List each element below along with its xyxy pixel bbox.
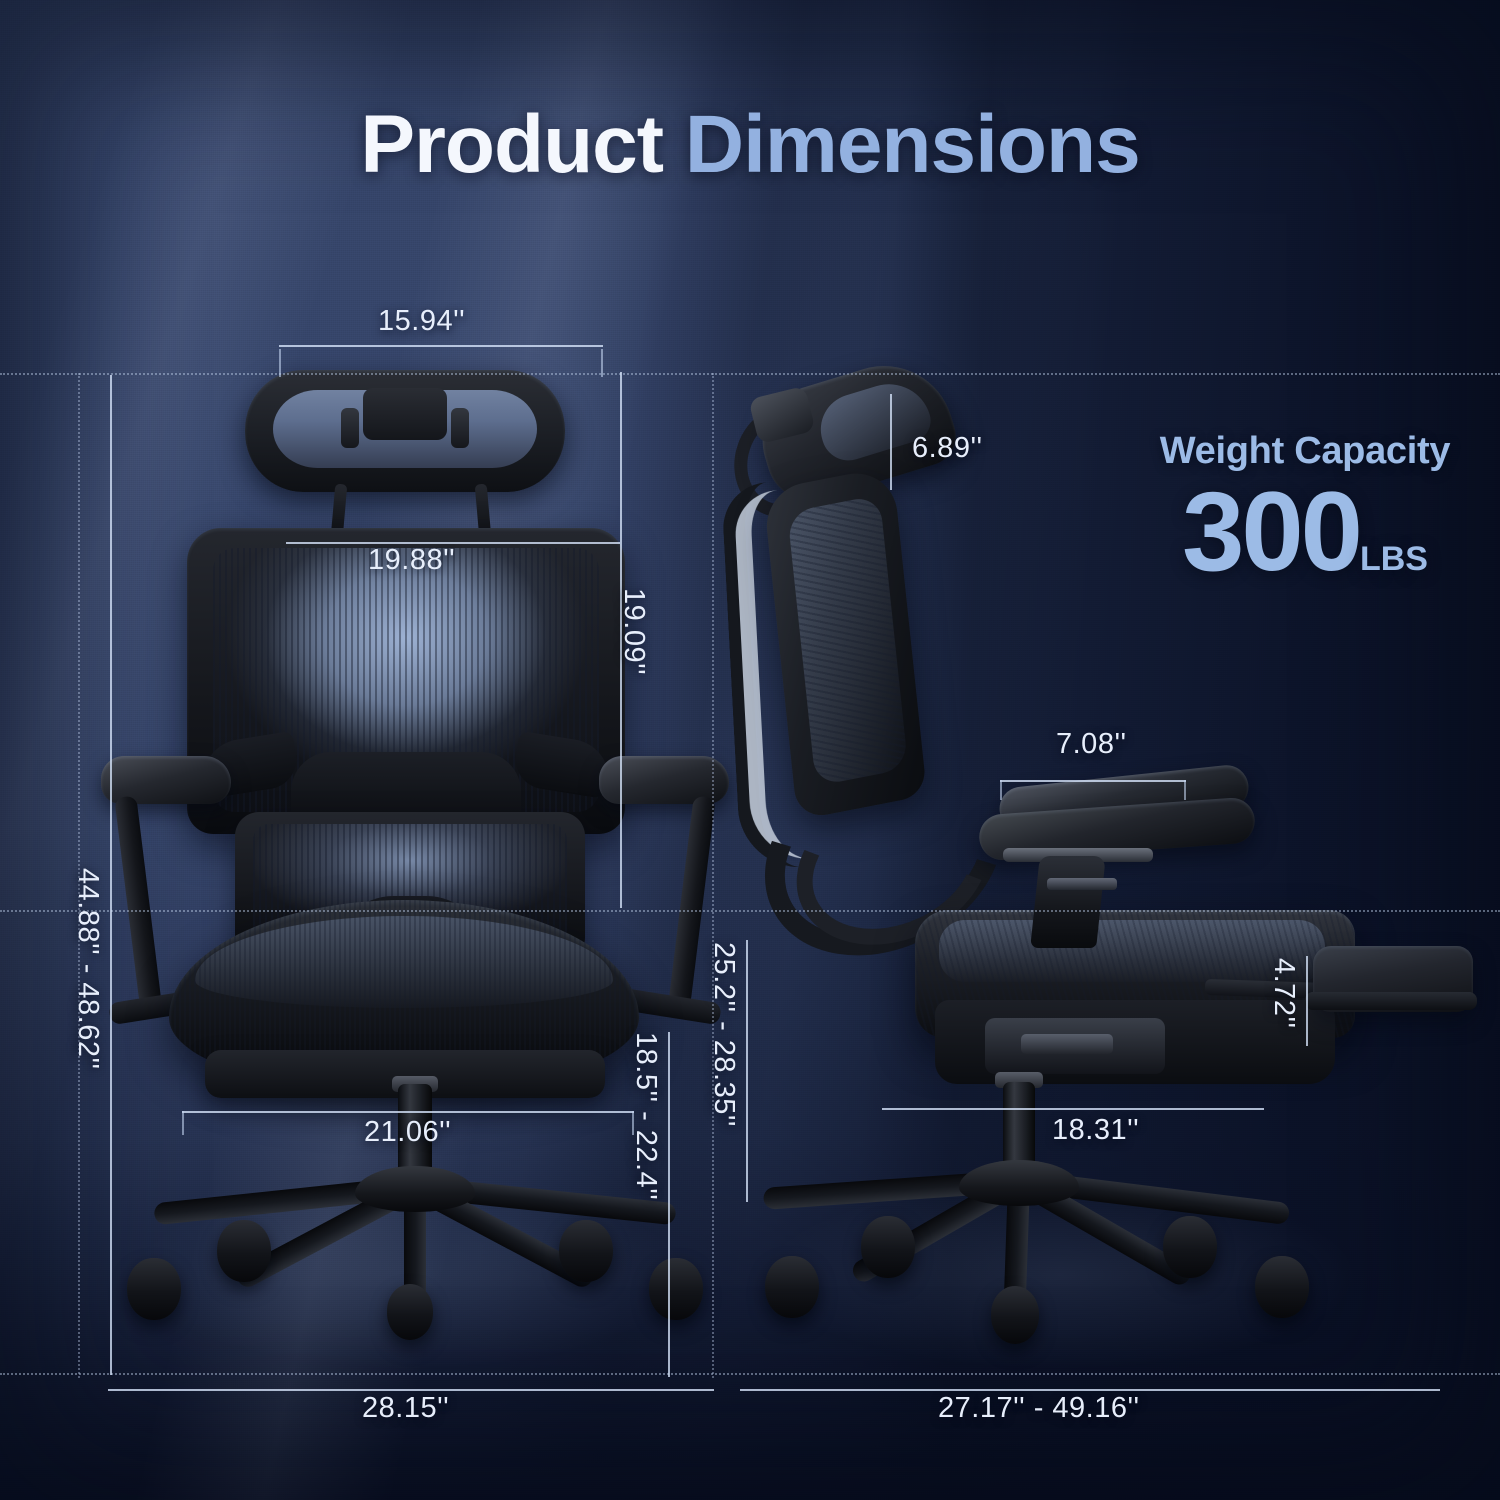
side-backrest-mesh — [787, 495, 908, 786]
tick-headrest-width-left — [279, 349, 281, 377]
tick-headrest-width-right — [601, 349, 603, 377]
side-backrest-ribs — [787, 495, 908, 786]
tick-armrest-depth-left — [1000, 780, 1002, 800]
line-seat-width — [182, 1111, 634, 1113]
label-seat-width: 21.06'' — [364, 1116, 451, 1149]
label-backrest-width: 19.88'' — [368, 544, 455, 577]
front-caster-mid-right — [559, 1220, 613, 1282]
line-footrest-height — [1306, 956, 1308, 1046]
front-armrest-right — [599, 756, 729, 802]
front-armrest-post-left — [114, 795, 161, 1006]
title-word-product: Product — [360, 99, 663, 190]
label-overall-width: 28.15'' — [362, 1392, 449, 1425]
front-headrest-clip-left — [341, 408, 359, 448]
guide-dotted-divider — [712, 373, 714, 1378]
line-headrest-width — [279, 345, 603, 347]
side-caster-right — [1255, 1256, 1309, 1318]
guide-dotted-top — [0, 373, 1500, 375]
weight-capacity-label: Weight Capacity — [1140, 430, 1470, 473]
side-caster-mid-right — [1163, 1216, 1217, 1278]
side-footrest-lip — [1305, 992, 1477, 1010]
front-caster-mid-left — [217, 1220, 271, 1282]
side-caster-left — [765, 1256, 819, 1318]
side-tilt-lever — [1021, 1034, 1113, 1054]
line-headrest-depth — [890, 394, 892, 490]
side-caster-center — [991, 1286, 1039, 1344]
tick-armrest-depth-right — [1184, 780, 1186, 800]
label-headrest-width: 15.94'' — [378, 305, 465, 338]
label-seat-depth: 18.31'' — [1052, 1114, 1139, 1147]
front-armrest-left — [101, 756, 231, 802]
product-dimensions-infographic: Product Dimensions — [0, 0, 1500, 1500]
line-seat-height — [668, 1032, 670, 1377]
weight-capacity-block: Weight Capacity 300LBS — [1140, 430, 1470, 585]
side-caster-mid-left — [861, 1216, 915, 1278]
label-side-backrest-height: 25.2'' - 28.35'' — [707, 942, 740, 1127]
line-overall-depth — [740, 1389, 1440, 1391]
line-overall-width — [108, 1389, 714, 1391]
label-overall-depth: 27.17'' - 49.16'' — [938, 1392, 1140, 1425]
side-base-5-star — [735, 1160, 1475, 1310]
front-headrest — [245, 370, 565, 492]
front-base-hub — [355, 1166, 475, 1212]
front-armrest-pad-right — [599, 756, 729, 804]
front-headrest-notch — [363, 388, 447, 440]
title-word-dimensions: Dimensions — [685, 99, 1140, 190]
side-armrest-slot — [1047, 878, 1117, 890]
line-seat-depth — [882, 1108, 1264, 1110]
front-caster-left — [127, 1258, 181, 1320]
label-overall-height: 44.88'' - 48.62'' — [71, 868, 104, 1070]
front-caster-center — [387, 1284, 433, 1340]
weight-capacity-unit: LBS — [1360, 540, 1428, 578]
line-armrest-depth — [1000, 780, 1186, 782]
guide-dotted-mid — [0, 910, 1500, 912]
side-armrest-post — [1030, 856, 1106, 948]
label-backrest-height: 19.09'' — [617, 588, 650, 675]
side-base-hub — [959, 1160, 1079, 1206]
weight-capacity-value: 300LBS — [1140, 479, 1470, 585]
front-caster-right — [649, 1258, 703, 1320]
tick-seat-width-right — [632, 1111, 634, 1135]
front-headrest-clip-right — [451, 408, 469, 448]
label-headrest-depth: 6.89'' — [912, 432, 983, 465]
line-overall-height — [110, 375, 112, 1375]
tick-seat-width-left — [182, 1111, 184, 1135]
weight-capacity-number: 300 — [1182, 469, 1360, 594]
line-side-backrest-height — [746, 940, 748, 1202]
guide-dotted-bottom — [0, 1373, 1500, 1375]
page-title: Product Dimensions — [0, 104, 1500, 186]
label-footrest-height: 4.72'' — [1267, 958, 1300, 1029]
label-armrest-depth: 7.08'' — [1056, 728, 1127, 761]
